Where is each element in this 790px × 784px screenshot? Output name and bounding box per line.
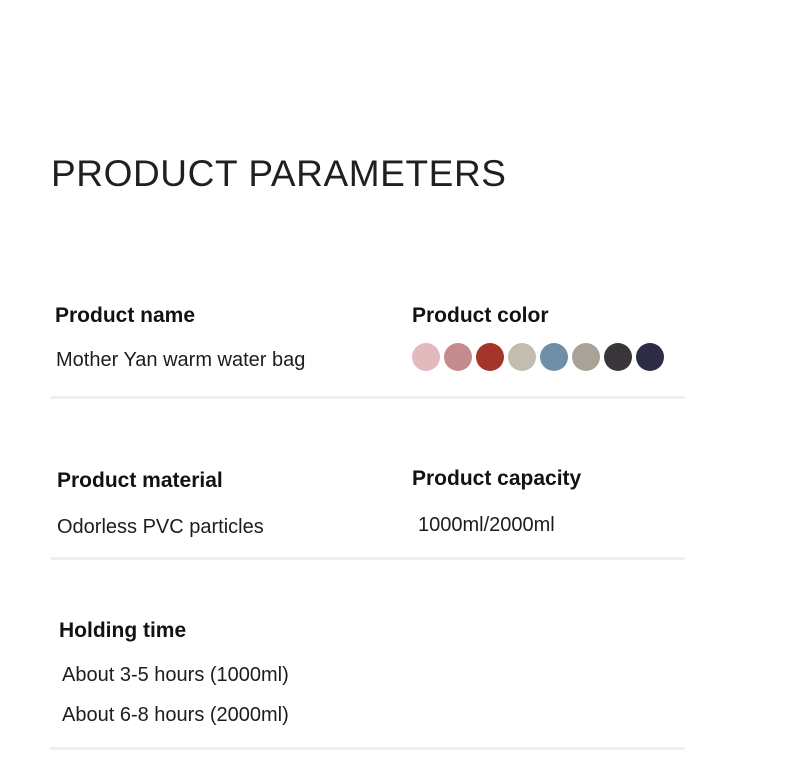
spec-value-product-name: Mother Yan warm water bag	[56, 345, 305, 375]
spec-label-holding-time: Holding time	[59, 618, 289, 644]
page-title: PRODUCT PARAMETERS	[51, 152, 507, 196]
spec-label-product-capacity: Product capacity	[412, 466, 581, 492]
color-swatch-strip	[412, 343, 664, 371]
color-swatch-steel-blue[interactable]	[540, 343, 568, 371]
color-swatch-dark-navy[interactable]	[636, 343, 664, 371]
product-parameters-page: PRODUCT PARAMETERS Product name Mother Y…	[0, 0, 790, 784]
spec-label-product-material: Product material	[57, 468, 264, 494]
spec-label-product-color: Product color	[412, 303, 664, 329]
spec-cell-product-color: Product color	[412, 303, 664, 371]
spec-value-product-capacity: 1000ml/2000ml	[418, 510, 581, 540]
row-divider-3	[50, 747, 685, 750]
holding-time-line-2000ml: About 6-8 hours (2000ml)	[62, 700, 289, 730]
spec-cell-product-name: Product name Mother Yan warm water bag	[55, 303, 305, 375]
color-swatch-light-pink[interactable]	[412, 343, 440, 371]
color-swatch-brick-red[interactable]	[476, 343, 504, 371]
color-swatch-dusty-rose[interactable]	[444, 343, 472, 371]
color-swatch-charcoal[interactable]	[604, 343, 632, 371]
color-swatch-warm-gray[interactable]	[572, 343, 600, 371]
spec-label-product-name: Product name	[55, 303, 305, 329]
spec-cell-product-material: Product material Odorless PVC particles	[57, 468, 264, 542]
row-divider-2	[50, 557, 685, 560]
row-divider-1	[50, 396, 685, 399]
spec-value-holding-time: About 3-5 hours (1000ml) About 6-8 hours…	[62, 660, 289, 730]
spec-cell-product-capacity: Product capacity 1000ml/2000ml	[412, 466, 581, 540]
spec-cell-holding-time: Holding time About 3-5 hours (1000ml) Ab…	[59, 618, 289, 730]
color-swatch-beige[interactable]	[508, 343, 536, 371]
spec-value-product-material: Odorless PVC particles	[57, 512, 264, 542]
holding-time-line-1000ml: About 3-5 hours (1000ml)	[62, 660, 289, 690]
